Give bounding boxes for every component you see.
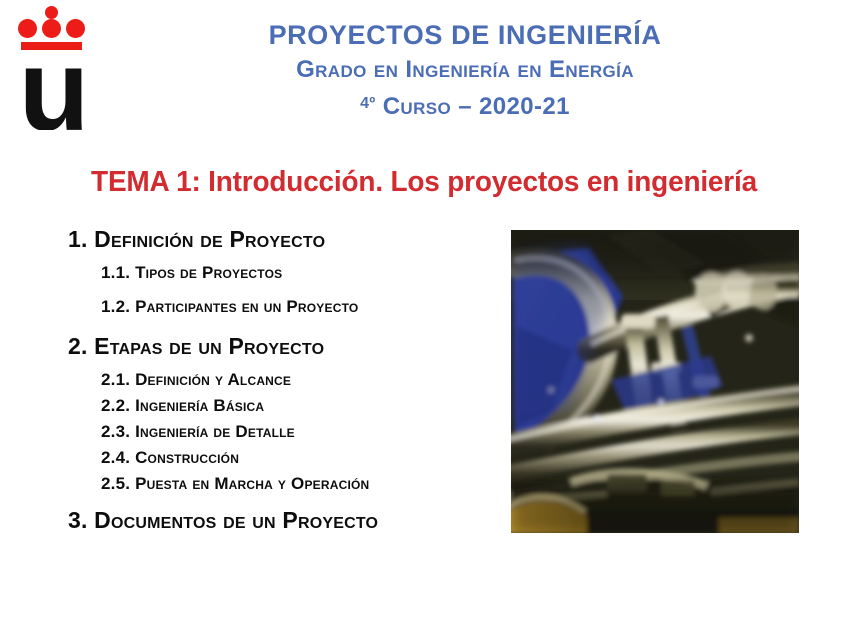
course-year: 4º Curso – 2020-21 — [100, 88, 830, 123]
crown-dot-right — [66, 19, 85, 38]
course-title: PROYECTOS DE INGENIERÍA — [100, 18, 830, 52]
outline-item-3: 3. Documentos de un Proyecto — [68, 505, 508, 536]
course-header: PROYECTOS DE INGENIERÍA Grado en Ingenie… — [100, 18, 830, 123]
outline-item-2-4: 2.4. Construcción — [101, 445, 508, 471]
degree-name: Grado en Ingeniería en Energía — [100, 54, 830, 86]
crown-dot-top — [45, 6, 58, 19]
outline-item-2-5: 2.5. Puesta en Marcha y Operación — [101, 471, 508, 497]
logo-letter-u: u — [16, 50, 90, 130]
photo-artwork — [511, 230, 799, 533]
outline-item-1-2: 1.2. Participantes en un Proyecto — [101, 294, 508, 320]
crown-dot-center — [42, 19, 61, 38]
topic-outline: 1. Definición de Proyecto 1.1. Tipos de … — [68, 224, 508, 536]
crown-dot-left — [18, 19, 37, 38]
outline-item-2-3: 2.3. Ingeniería de Detalle — [101, 419, 508, 445]
outline-item-2: 2. Etapas de un Proyecto — [68, 331, 508, 362]
urjc-logo: u — [14, 6, 90, 130]
outline-item-2-2: 2.2. Ingeniería Básica — [101, 393, 508, 419]
outline-item-1: 1. Definición de Proyecto — [68, 224, 508, 255]
crown-bar — [21, 42, 82, 50]
crown-icon — [14, 6, 90, 52]
course-year-rest: Curso – 2020-21 — [376, 93, 570, 120]
course-year-ordinal: 4º — [360, 95, 376, 112]
industrial-piping-photo — [511, 230, 799, 533]
slide-title: TEMA 1: Introducción. Los proyectos en i… — [15, 166, 833, 199]
outline-item-2-1: 2.1. Definición y Alcance — [101, 367, 508, 393]
outline-item-1-1: 1.1. Tipos de Proyectos — [101, 260, 508, 286]
